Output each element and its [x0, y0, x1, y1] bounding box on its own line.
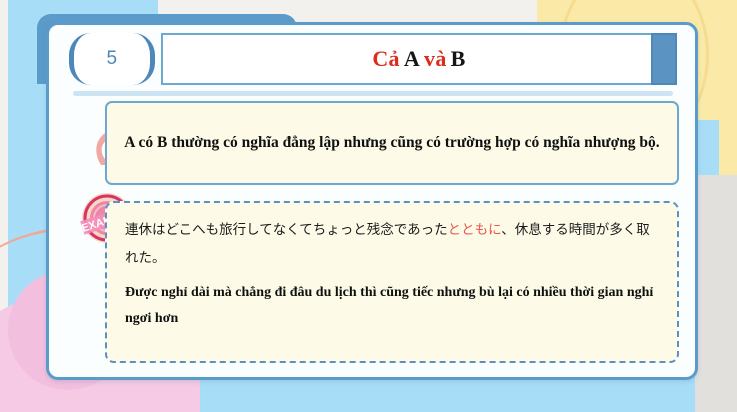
slide-root: 5 Cả A và B EX	[0, 0, 737, 412]
title-bar-accent-block	[651, 33, 677, 85]
japanese-grammar-highlight: とともに	[448, 222, 502, 238]
japanese-example-sentence: 連休はどこへも旅行してなくてちょっと残念であったとともに、休息する時間が多く取れ…	[125, 217, 659, 272]
page-title: Cả A và B	[163, 35, 675, 83]
title-bar: Cả A và B	[161, 33, 677, 85]
content-card: 5 Cả A và B EX	[46, 22, 698, 380]
statement-box: A có B thường có nghĩa đẳng lập nhưng cũ…	[105, 101, 679, 185]
vietnamese-translation: Được nghỉ dài mà chẳng đi đâu du lịch th…	[125, 280, 659, 332]
title-part-a: A	[404, 46, 420, 72]
card-header: 5 Cả A và B	[49, 31, 695, 87]
title-part-ca: Cả	[372, 46, 400, 72]
decor-grey-right-strip	[695, 175, 737, 412]
title-part-b: B	[451, 46, 466, 72]
section-number-label: 5	[106, 48, 117, 70]
statement-text: A có B thường có nghĩa đẳng lập nhưng cũ…	[124, 128, 659, 158]
example-box: 連休はどこへも旅行してなくてちょっと残念であったとともに、休息する時間が多く取れ…	[105, 201, 679, 363]
japanese-text-before: 連休はどこへも旅行してなくてちょっと残念であった	[125, 222, 448, 238]
title-part-va: và	[424, 46, 447, 72]
section-number-badge: 5	[69, 33, 155, 85]
header-divider	[73, 91, 673, 96]
